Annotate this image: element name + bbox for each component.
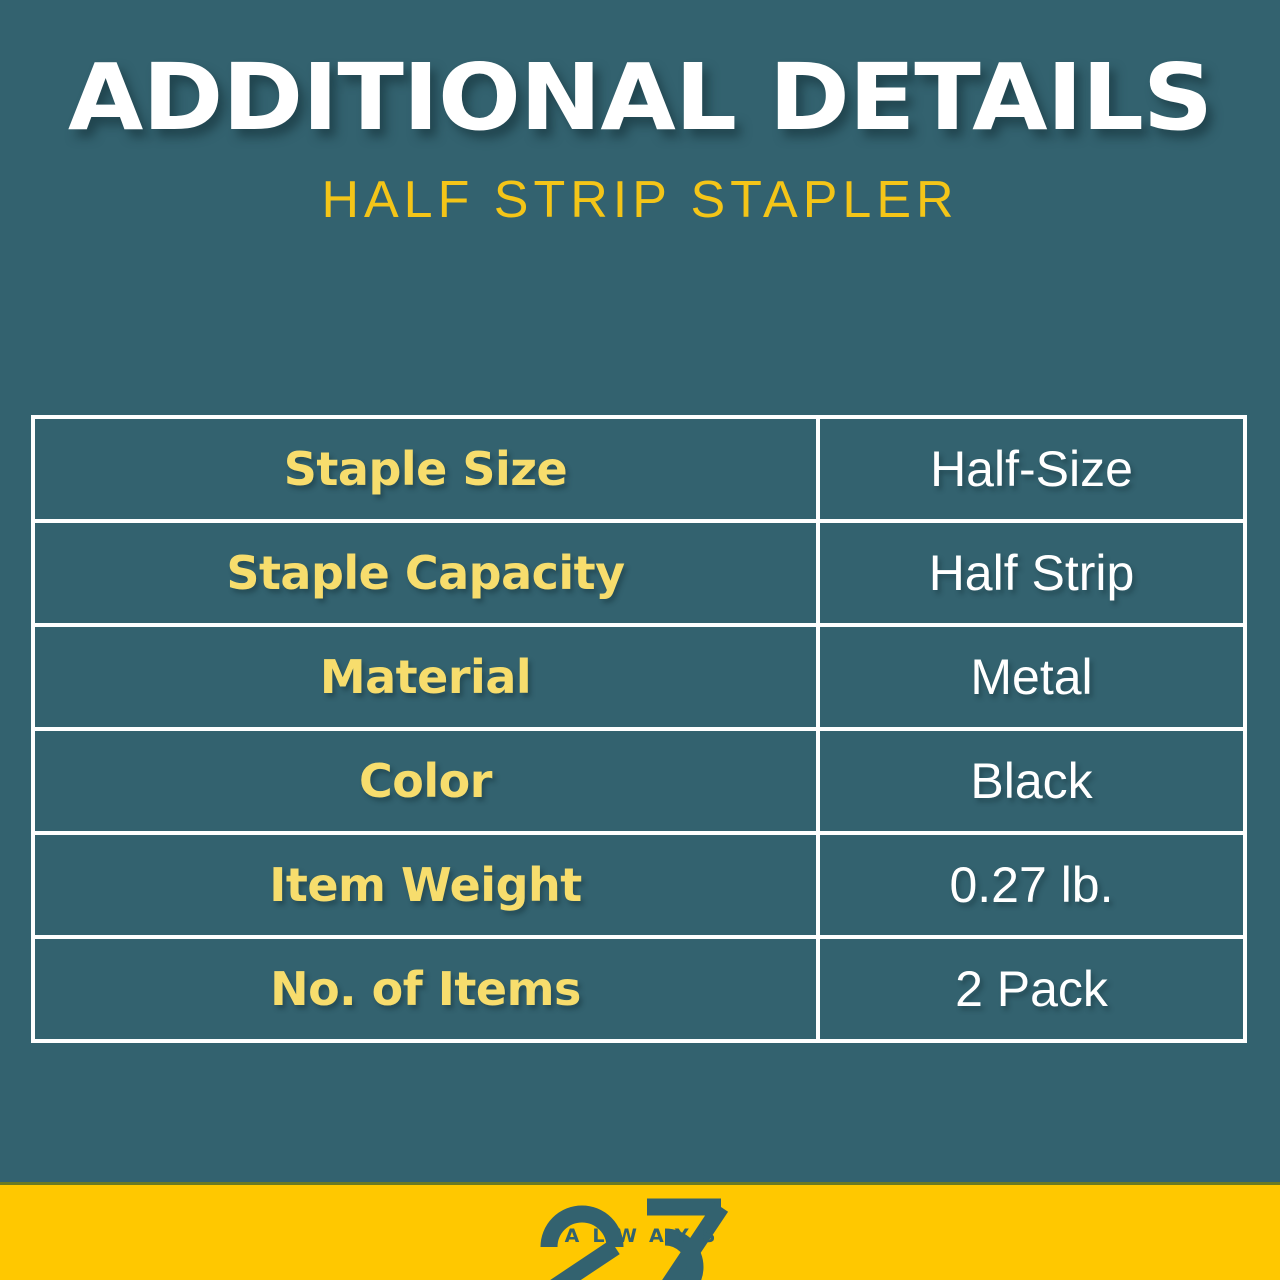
spec-label: Material [320, 650, 531, 704]
specification-table: Staple SizeHalf-SizeStaple CapacityHalf … [31, 415, 1247, 1043]
spec-value-cell: Black [820, 731, 1243, 831]
table-row: Staple CapacityHalf Strip [35, 523, 1243, 627]
spec-label-cell: Staple Capacity [35, 523, 820, 623]
spec-label-cell: Item Weight [35, 835, 820, 935]
spec-value-cell: Metal [820, 627, 1243, 727]
page-title: ADDITIONAL DETAILS [0, 52, 1280, 144]
spec-value-cell: Half-Size [820, 419, 1243, 519]
spec-value: 2 Pack [955, 960, 1108, 1018]
spec-value: 0.27 lb. [949, 856, 1113, 914]
spec-value-cell: 0.27 lb. [820, 835, 1243, 935]
spec-label: Staple Capacity [226, 546, 624, 600]
brand-wordmark: ALWAYS [552, 1225, 729, 1247]
page-footer: ALWAYS [0, 1182, 1280, 1280]
spec-value: Black [970, 752, 1092, 810]
spec-label: Staple Size [284, 442, 567, 496]
spec-label: No. of Items [270, 962, 581, 1016]
spec-value-cell: 2 Pack [820, 939, 1243, 1039]
table-row: MaterialMetal [35, 627, 1243, 731]
spec-value: Half Strip [929, 544, 1135, 602]
spec-label-cell: Color [35, 731, 820, 831]
spec-label-cell: Material [35, 627, 820, 727]
table-row: Item Weight0.27 lb. [35, 835, 1243, 939]
spec-label: Color [359, 754, 492, 808]
spec-label-cell: No. of Items [35, 939, 820, 1039]
spec-value-cell: Half Strip [820, 523, 1243, 623]
page-header: ADDITIONAL DETAILS HALF STRIP STAPLER [0, 0, 1280, 230]
spec-value: Half-Size [930, 440, 1133, 498]
page-subtitle: HALF STRIP STAPLER [0, 170, 1280, 230]
table-row: ColorBlack [35, 731, 1243, 835]
table-row: No. of Items2 Pack [35, 939, 1243, 1039]
table-row: Staple SizeHalf-Size [35, 419, 1243, 523]
spec-label: Item Weight [269, 858, 581, 912]
spec-value: Metal [970, 648, 1092, 706]
spec-label-cell: Staple Size [35, 419, 820, 519]
